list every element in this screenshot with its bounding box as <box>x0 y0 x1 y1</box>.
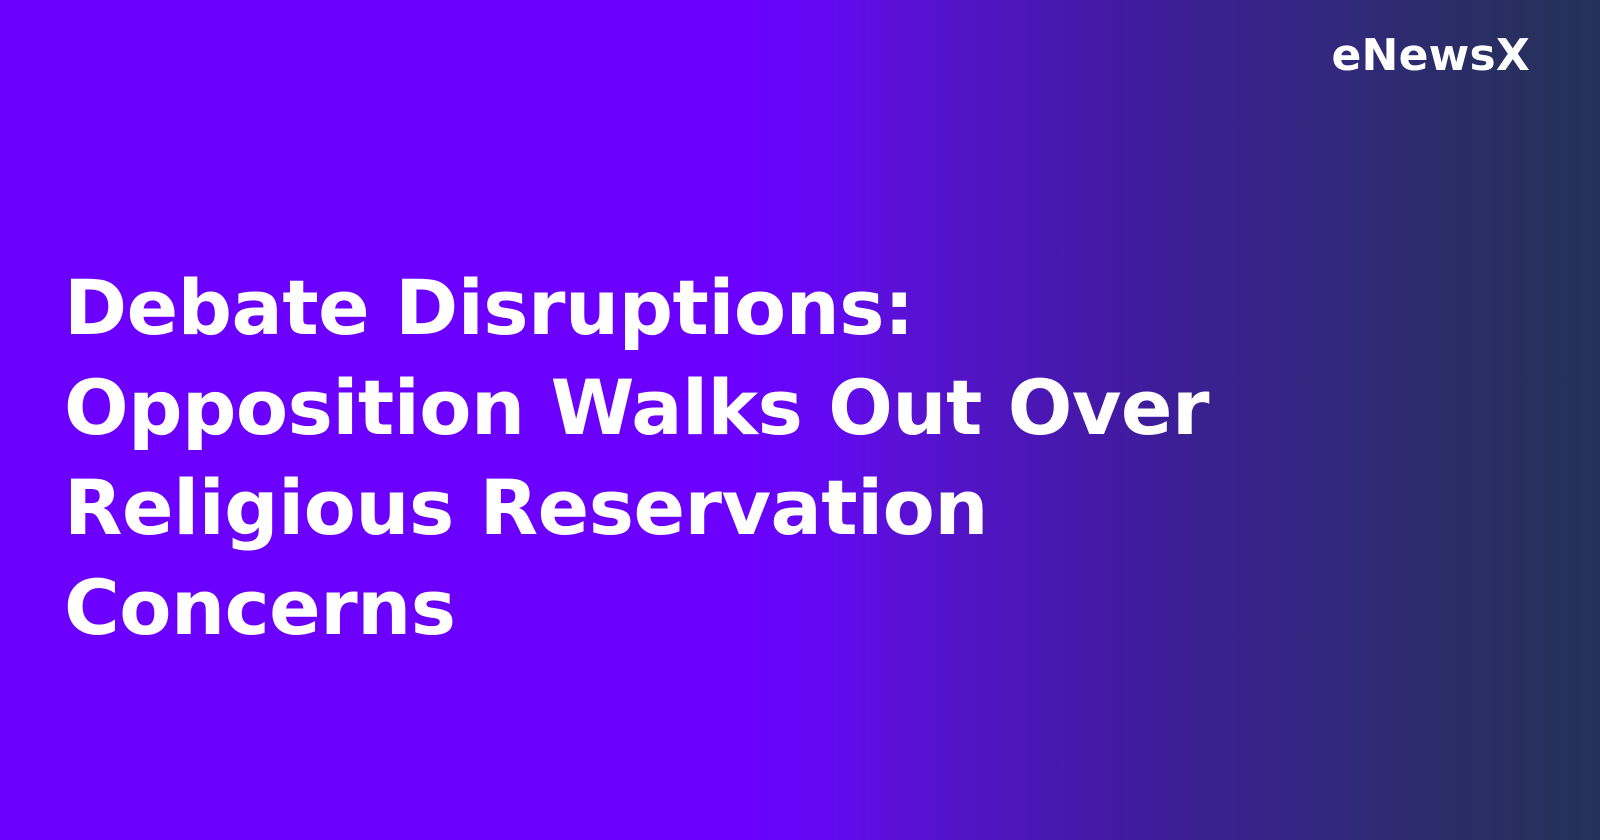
news-card: eNewsX Debate Disruptions: Opposition Wa… <box>0 0 1600 840</box>
headline-container: Debate Disruptions: Opposition Walks Out… <box>64 258 1394 658</box>
page-title: Debate Disruptions: Opposition Walks Out… <box>64 258 1394 658</box>
brand-logo[interactable]: eNewsX <box>1332 33 1530 79</box>
